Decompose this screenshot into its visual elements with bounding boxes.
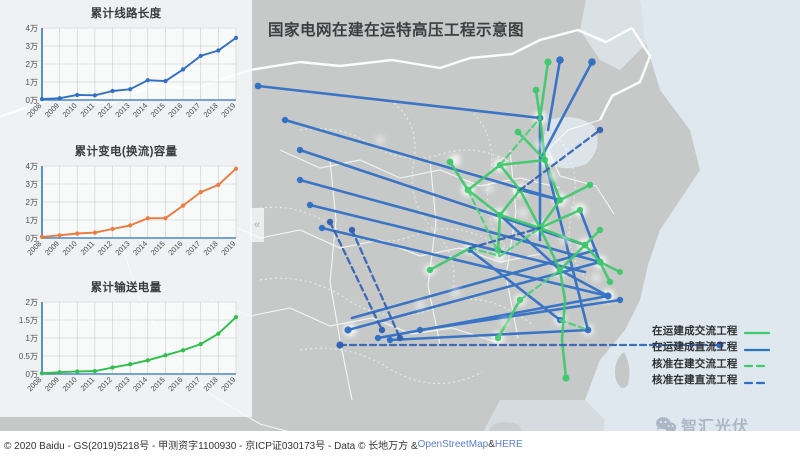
chart-svg-cumulative-power-transmitted: 0万0.5万1万1.5万2万20082009201020112012201320…: [8, 296, 244, 408]
data-point: [199, 342, 203, 346]
x-tick-label: 2014: [131, 375, 149, 393]
data-point: [93, 369, 97, 373]
x-tick-label: 2016: [166, 101, 184, 119]
x-tick-label: 2017: [184, 375, 202, 393]
x-tick-label: 2011: [79, 239, 97, 257]
legend-ac-under-construction[interactable]: 核准在建交流工程: [652, 355, 770, 372]
y-tick-label: 2万: [26, 198, 38, 207]
x-tick-label: 2018: [202, 375, 220, 393]
data-point: [40, 97, 44, 101]
x-tick-label: 2009: [43, 101, 61, 119]
data-point: [128, 223, 132, 227]
x-tick-label: 2019: [219, 239, 237, 257]
legend-label: 核准在建直流工程: [652, 372, 738, 387]
chart-plot-area: 0万1万2万3万4万200820092010201120122013201420…: [8, 160, 244, 272]
data-point: [58, 233, 62, 237]
x-tick-label: 2015: [149, 239, 167, 257]
data-point: [40, 235, 44, 239]
x-tick-label: 2009: [43, 375, 61, 393]
data-point: [234, 36, 238, 40]
x-tick-label: 2015: [149, 101, 167, 119]
legend-label: 核准在建交流工程: [652, 356, 738, 371]
x-tick-label: 2011: [79, 101, 97, 119]
x-tick-label: 2011: [79, 375, 97, 393]
data-point: [93, 231, 97, 235]
data-point: [75, 231, 79, 235]
legend-label: 在运建成交流工程: [652, 323, 738, 338]
data-point: [110, 89, 114, 93]
data-point: [199, 190, 203, 194]
panel-collapse-button[interactable]: «: [250, 208, 264, 242]
x-tick-label: 2017: [184, 101, 202, 119]
attribution-link[interactable]: OpenStreetMap: [418, 439, 489, 450]
data-point: [181, 348, 185, 352]
x-tick-label: 2013: [113, 239, 131, 257]
chart-plot-area: 0万0.5万1万1.5万2万20082009201020112012201320…: [8, 296, 244, 408]
x-tick-label: 2016: [166, 239, 184, 257]
x-tick-label: 2018: [202, 239, 220, 257]
x-tick-label: 2010: [61, 375, 79, 393]
statistics-panel: 累计线路长度 0万1万2万3万4万20082009201020112012201…: [0, 0, 252, 417]
chart-cumulative-transformer-capacity: 累计变电(换流)容量 0万1万2万3万4万2008200920102011201…: [8, 142, 244, 275]
data-point: [216, 183, 220, 187]
chart-title: 累计输送电量: [8, 280, 244, 296]
y-tick-label: 1万: [26, 334, 38, 343]
data-point: [216, 332, 220, 336]
y-tick-label: 2万: [26, 298, 38, 307]
data-point: [199, 54, 203, 58]
data-point: [40, 371, 44, 375]
y-tick-label: 3万: [26, 42, 38, 51]
data-point: [146, 216, 150, 220]
y-tick-label: 4万: [26, 24, 38, 33]
y-tick-label: 1万: [26, 78, 38, 87]
x-tick-label: 2013: [113, 101, 131, 119]
chart-cumulative-line-length: 累计线路长度 0万1万2万3万4万20082009201020112012201…: [8, 4, 244, 137]
chart-title: 累计变电(换流)容量: [8, 144, 244, 160]
x-tick-label: 2009: [43, 239, 61, 257]
x-tick-label: 2012: [96, 375, 114, 393]
data-point: [163, 216, 167, 220]
x-tick-label: 2018: [202, 101, 220, 119]
attribution-text: © 2020 Baidu - GS(2019)5218号 - 甲测资字11009…: [4, 437, 418, 452]
chart-title: 累计线路长度: [8, 6, 244, 22]
y-tick-label: 4万: [26, 162, 38, 171]
data-point: [110, 227, 114, 231]
x-tick-label: 2014: [131, 101, 149, 119]
chart-svg-cumulative-transformer-capacity: 0万1万2万3万4万200820092010201120122013201420…: [8, 160, 244, 272]
legend-swatch: [744, 325, 770, 335]
chart-cumulative-power-transmitted: 累计输送电量 0万0.5万1万1.5万2万2008200920102011201…: [8, 278, 244, 411]
y-tick-label: 1万: [26, 216, 38, 225]
attribution-text: &: [488, 439, 495, 450]
x-tick-label: 2019: [219, 375, 237, 393]
data-point: [93, 93, 97, 97]
data-point: [110, 365, 114, 369]
data-point: [181, 204, 185, 208]
data-point: [216, 48, 220, 52]
data-point: [58, 96, 62, 100]
x-tick-label: 2016: [166, 375, 184, 393]
x-tick-label: 2012: [96, 239, 114, 257]
legend-swatch: [744, 342, 770, 352]
data-point: [128, 362, 132, 366]
x-tick-label: 2010: [61, 239, 79, 257]
attribution-link[interactable]: HERE: [495, 439, 523, 450]
y-tick-label: 1.5万: [19, 316, 38, 325]
y-tick-label: 2万: [26, 60, 38, 69]
data-point: [181, 67, 185, 71]
data-point: [234, 315, 238, 319]
data-point: [146, 78, 150, 82]
x-tick-label: 2014: [131, 239, 149, 257]
legend-dc-operational[interactable]: 在运建成直流工程: [652, 339, 770, 356]
data-point: [128, 87, 132, 91]
data-point: [146, 358, 150, 362]
x-tick-label: 2017: [184, 239, 202, 257]
chart-plot-area: 0万1万2万3万4万200820092010201120122013201420…: [8, 22, 244, 134]
attribution-bar: © 2020 Baidu - GS(2019)5218号 - 甲测资字11009…: [0, 431, 800, 457]
x-tick-label: 2013: [113, 375, 131, 393]
data-point: [58, 370, 62, 374]
data-point: [163, 353, 167, 357]
x-tick-label: 2015: [149, 375, 167, 393]
data-point: [234, 167, 238, 171]
x-tick-label: 2010: [61, 101, 79, 119]
legend-ac-operational[interactable]: 在运建成交流工程: [652, 322, 770, 339]
map-application: 国家电网在建在运特高压工程示意图 累计线路长度 0万1万2万3万4万200820…: [0, 0, 800, 457]
x-tick-label: 2019: [219, 101, 237, 119]
y-tick-label: 3万: [26, 180, 38, 189]
legend-swatch: [744, 358, 770, 368]
map-legend: 在运建成交流工程在运建成直流工程核准在建交流工程核准在建直流工程: [652, 322, 770, 388]
chart-svg-cumulative-line-length: 0万1万2万3万4万200820092010201120122013201420…: [8, 22, 244, 134]
data-point: [163, 79, 167, 83]
map-title: 国家电网在建在运特高压工程示意图: [268, 18, 524, 40]
y-tick-label: 0.5万: [19, 352, 38, 361]
data-point: [75, 93, 79, 97]
legend-dc-under-construction[interactable]: 核准在建直流工程: [652, 372, 770, 389]
legend-label: 在运建成直流工程: [652, 339, 738, 354]
data-point: [75, 369, 79, 373]
x-tick-label: 2012: [96, 101, 114, 119]
legend-swatch: [744, 375, 770, 385]
